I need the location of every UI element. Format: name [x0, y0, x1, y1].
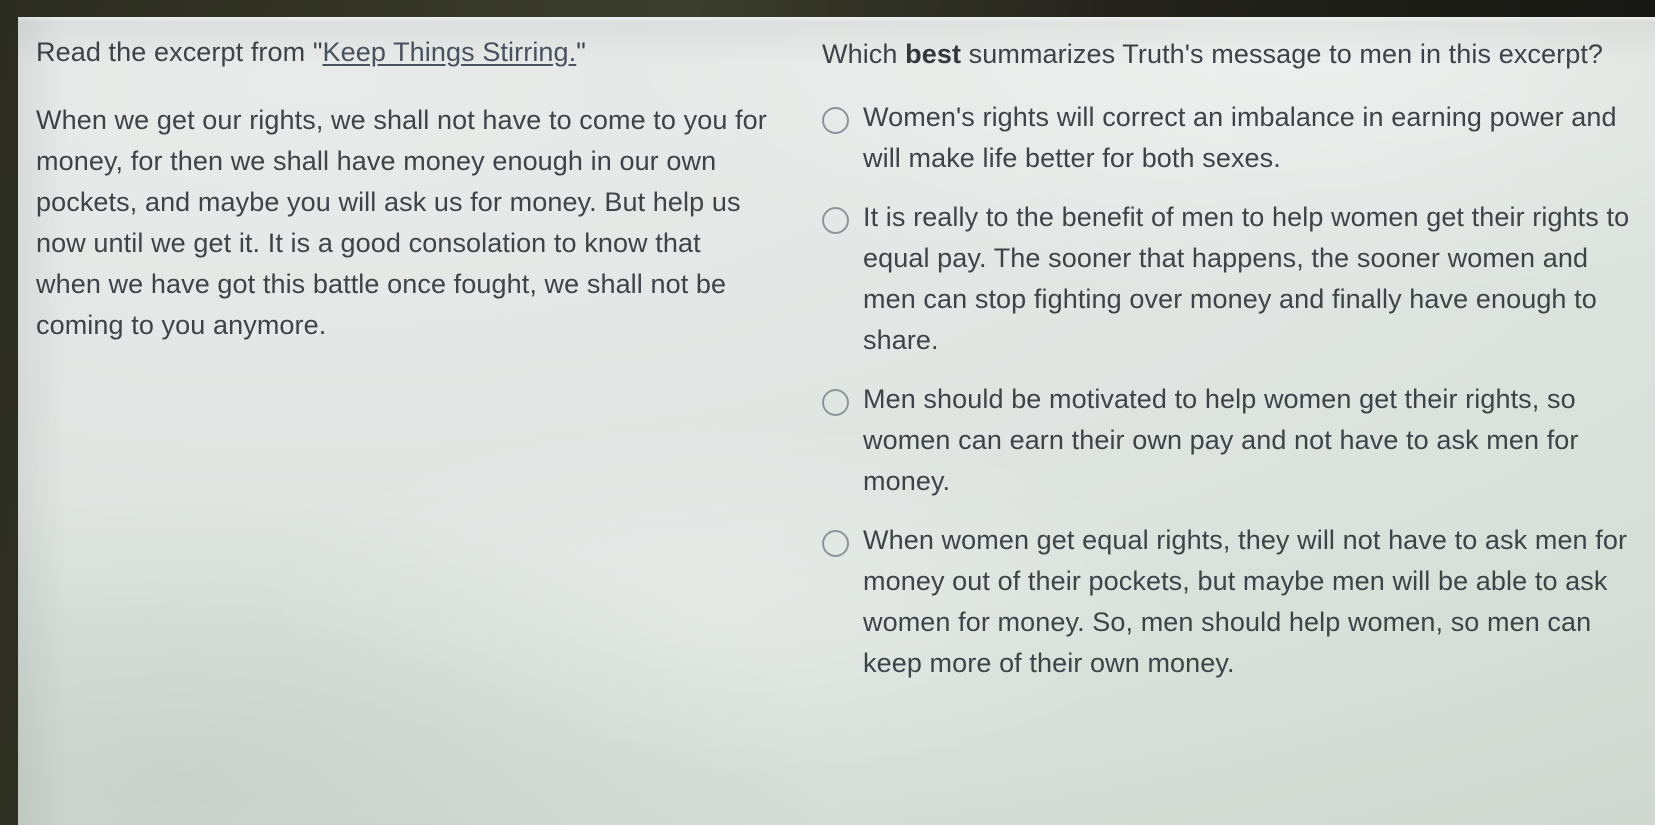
answer-choice-label: Men should be motivated to help women ge…	[863, 379, 1641, 502]
radio-button-icon[interactable]	[822, 107, 849, 134]
question-stem-emphasis: best	[905, 39, 961, 69]
screen-surface: Read the excerpt from "Keep Things Stirr…	[18, 17, 1655, 825]
answer-choice-b[interactable]: It is really to the benefit of men to he…	[822, 197, 1641, 361]
question-stem-prefix: Which	[822, 39, 905, 69]
radio-button-icon[interactable]	[822, 207, 849, 234]
answer-choice-c[interactable]: Men should be motivated to help women ge…	[822, 379, 1641, 502]
passage-pane: Read the excerpt from "Keep Things Stirr…	[18, 34, 808, 346]
question-stem-suffix: summarizes Truth's message to men in thi…	[961, 39, 1603, 69]
photo-frame: Read the excerpt from "Keep Things Stirr…	[0, 0, 1655, 825]
radio-button-icon[interactable]	[822, 389, 849, 416]
answer-choice-label: Women's rights will correct an imbalance…	[863, 97, 1641, 179]
answer-choice-a[interactable]: Women's rights will correct an imbalance…	[822, 97, 1641, 179]
question-stem: Which best summarizes Truth's message to…	[822, 34, 1641, 75]
quiz-content: Read the excerpt from "Keep Things Stirr…	[18, 17, 1655, 825]
answer-choice-label: It is really to the benefit of men to he…	[863, 197, 1641, 361]
answer-choice-d[interactable]: When women get equal rights, they will n…	[822, 520, 1641, 684]
question-pane: Which best summarizes Truth's message to…	[808, 34, 1655, 702]
answer-choice-list: Women's rights will correct an imbalance…	[822, 97, 1641, 684]
passage-excerpt-text: When we get our rights, we shall not hav…	[36, 100, 768, 346]
radio-button-icon[interactable]	[822, 530, 849, 557]
passage-prompt: Read the excerpt from "Keep Things Stirr…	[36, 34, 768, 70]
answer-choice-label: When women get equal rights, they will n…	[863, 520, 1641, 684]
excerpt-source-link[interactable]: Keep Things Stirring.	[323, 37, 577, 67]
passage-prompt-prefix: Read the excerpt from "	[36, 37, 323, 67]
passage-prompt-suffix: "	[576, 37, 586, 67]
